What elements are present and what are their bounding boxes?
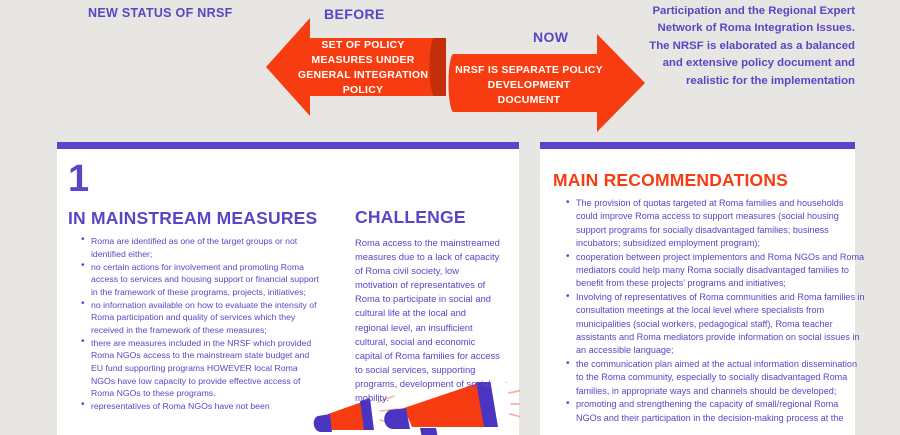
card-top-bar-right	[540, 142, 855, 149]
list-item: Roma are identified as one of the target…	[91, 235, 319, 260]
heading-main-recommendations: MAIN RECOMMENDATIONS	[553, 170, 788, 191]
label-now: NOW	[533, 29, 568, 45]
challenge-body-text: Roma access to the mainstreamed measures…	[355, 236, 500, 405]
arrow-before-text: SET OF POLICY MEASURES UNDER GENERAL INT…	[292, 38, 434, 98]
list-item: the communication plan aimed at the actu…	[576, 358, 866, 398]
list-item: no certain actions for involvement and p…	[91, 261, 319, 299]
list-item: promoting and strengthening the capacity…	[576, 398, 866, 425]
list-item: no information available on how to evalu…	[91, 299, 319, 337]
arrow-now-text: NRSF IS SEPARATE POLICY DEVELOPMENT DOCU…	[455, 63, 603, 108]
list-item: cooperation between project implementors…	[576, 251, 866, 291]
slide-canvas: NEW STATUS OF NRSF BEFORE NOW SET OF POL…	[0, 0, 900, 435]
heading-challenge: CHALLENGE	[355, 207, 466, 228]
section-number: 1	[68, 160, 89, 198]
intro-paragraph: Participation and the Regional Expert Ne…	[643, 3, 855, 90]
heading-in-mainstream-measures: IN MAINSTREAM MEASURES	[68, 208, 317, 229]
list-item: there are measures included in the NRSF …	[91, 337, 319, 400]
page-title: NEW STATUS OF NRSF	[88, 6, 233, 20]
bullet-list-recommendations: The provision of quotas targeted at Roma…	[563, 197, 866, 426]
list-item: The provision of quotas targeted at Roma…	[576, 197, 866, 250]
list-item: Involving of representatives of Roma com…	[576, 291, 866, 357]
label-before: BEFORE	[324, 6, 385, 22]
bullet-list-mainstream: Roma are identified as one of the target…	[78, 235, 319, 413]
list-item: representatives of Roma NGOs have not be…	[91, 400, 319, 413]
card-top-bar-left	[57, 142, 519, 149]
